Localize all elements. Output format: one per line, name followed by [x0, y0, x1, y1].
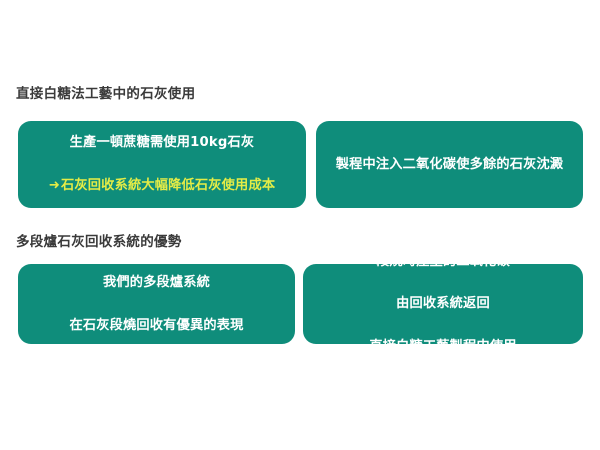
card-our-system-performance: 我們的多段爐系統 在石灰段燒回收有優異的表現: [18, 264, 295, 344]
card-line: 製程中注入二氧化碳使多餘的石灰沈澱: [336, 154, 564, 175]
card-text: 段燒時產生的二氧化碳 由回收系統返回 直接白糖工藝製程中使用: [369, 229, 516, 379]
section-heading-lime-usage: 直接白糖法工藝中的石灰使用: [16, 88, 195, 102]
card-co2-recycle-loop: 段燒時產生的二氧化碳 由回收系統返回 直接白糖工藝製程中使用: [303, 264, 583, 344]
slide-canvas: 直接白糖法工藝中的石灰使用 生產一頓蔗糖需使用10kg石灰 ➜石灰回收系統大幅降…: [0, 0, 600, 450]
card-line-highlight-label: 石灰回收系統大幅降低石灰使用成本: [61, 178, 275, 193]
card-lime-consumption: 生產一頓蔗糖需使用10kg石灰 ➜石灰回收系統大幅降低石灰使用成本: [18, 121, 306, 208]
card-co2-injection: 製程中注入二氧化碳使多餘的石灰沈澱: [316, 121, 583, 208]
card-text: 生產一頓蔗糖需使用10kg石灰 ➜石灰回收系統大幅降低石灰使用成本: [49, 111, 275, 218]
card-line: 在石灰段燒回收有優異的表現: [69, 315, 243, 336]
card-line-highlight: ➜石灰回收系統大幅降低石灰使用成本: [49, 175, 275, 196]
card-line: 由回收系統返回: [369, 293, 516, 314]
card-line: 段燒時產生的二氧化碳: [369, 251, 516, 272]
section-heading-multi-hearth-advantages: 多段爐石灰回收系統的優勢: [16, 236, 182, 250]
card-text: 我們的多段爐系統 在石灰段燒回收有優異的表現: [69, 251, 243, 358]
card-line: 生產一頓蔗糖需使用10kg石灰: [49, 132, 275, 153]
card-text: 製程中注入二氧化碳使多餘的石灰沈澱: [336, 132, 564, 196]
card-line: 直接白糖工藝製程中使用: [369, 336, 516, 357]
card-line: 我們的多段爐系統: [69, 272, 243, 293]
arrow-right-icon: ➜: [49, 175, 60, 196]
